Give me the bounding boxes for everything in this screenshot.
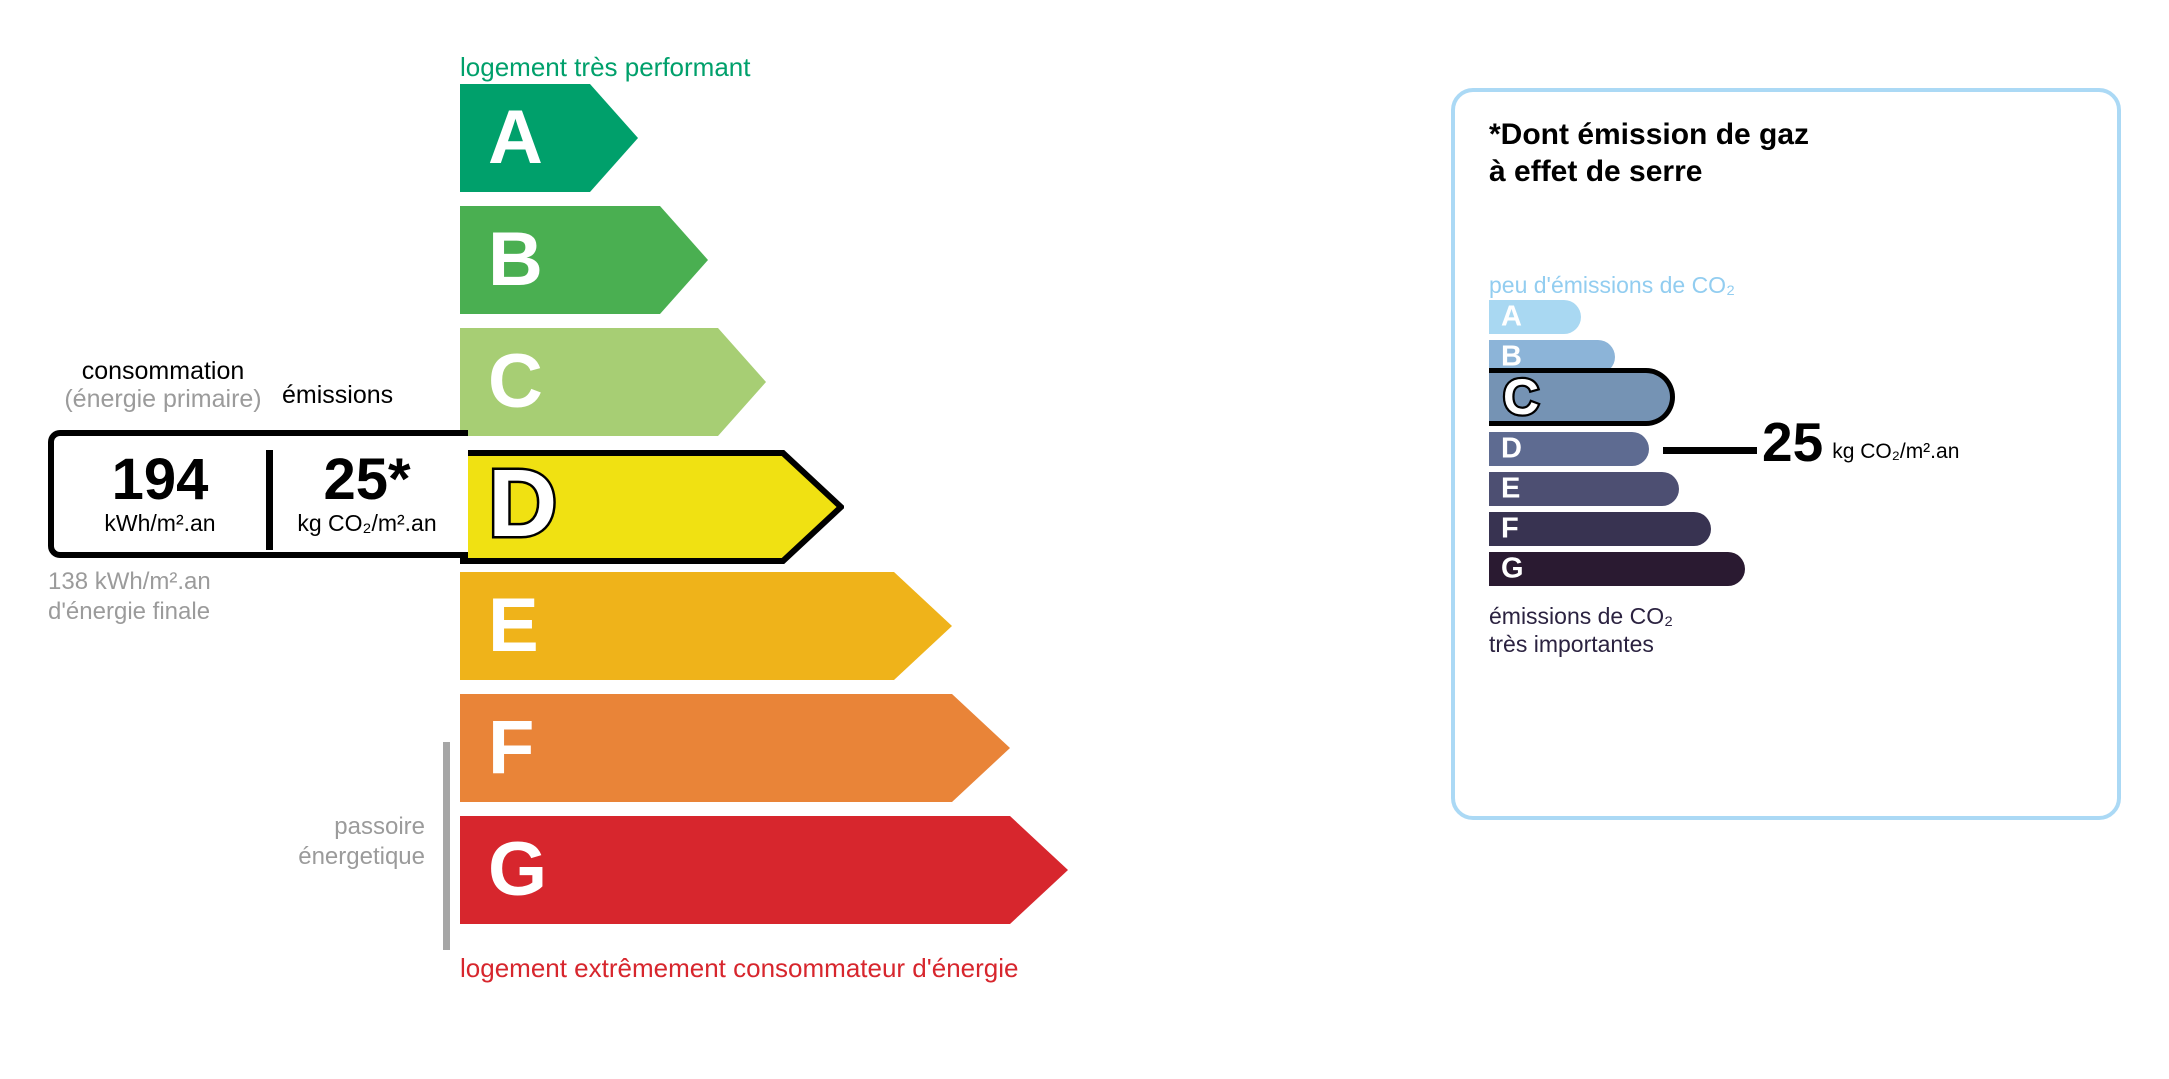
arrow-shape-a [460, 84, 638, 192]
emissions-value: 25* [323, 451, 410, 509]
emissions-value-cell: 25* kg CO₂/m².an [272, 436, 462, 552]
passoire-line2: énergetique [250, 842, 425, 872]
co2-scale-bottom-caption: émissions de CO₂ très importantes [1489, 602, 1673, 658]
co2-class-bar-e: E [1489, 472, 1679, 506]
energy-class-letter-e: E [488, 588, 539, 664]
consumption-label-main: consommation [82, 357, 245, 385]
consumption-label: consommation (énergie primaire) [48, 357, 278, 413]
energy-class-letter-a: A [488, 100, 543, 176]
co2-class-bar-c: C [1489, 368, 1675, 426]
consumption-label-sub: (énergie primaire) [48, 385, 278, 413]
co2-leader-line [1663, 447, 1757, 454]
co2-value-number: 25 [1762, 415, 1823, 470]
co2-value-unit: kg CO₂/m².an [1832, 440, 1959, 464]
co2-bottom-line1: émissions de CO₂ [1489, 602, 1673, 630]
co2-scale-top-caption: peu d'émissions de CO₂ [1489, 272, 1735, 299]
consumption-unit: kWh/m².an [104, 511, 215, 536]
energy-class-arrow-c: C [460, 328, 766, 436]
final-energy-line2: d'énergie finale [48, 597, 211, 627]
passoire-line1: passoire [250, 812, 425, 842]
passoire-bracket [443, 742, 450, 950]
co2-class-letter-e: E [1501, 475, 1520, 504]
emissions-label: émissions [282, 381, 393, 410]
co2-class-letter-a: A [1501, 303, 1522, 332]
energy-class-letter-c: C [488, 344, 543, 420]
co2-panel-title: *Dont émission de gaz à effet de serre [1489, 117, 1809, 190]
arrow-shape-g [460, 816, 1068, 924]
co2-title-line2: à effet de serre [1489, 154, 1809, 191]
final-energy-note: 138 kWh/m².an d'énergie finale [48, 567, 211, 627]
final-energy-line1: 138 kWh/m².an [48, 567, 211, 597]
energy-class-arrow-d: D [460, 450, 838, 558]
co2-class-bar-d: D [1489, 432, 1649, 466]
energy-class-letter-d: D [488, 456, 557, 552]
energy-class-letter-g: G [488, 832, 547, 908]
consumption-value-cell: 194 kWh/m².an [54, 436, 266, 552]
energy-scale-top-caption: logement très performant [460, 52, 750, 83]
co2-class-letter-d: D [1501, 435, 1522, 464]
co2-value-readout: 25 kg CO₂/m².an [1762, 415, 1959, 470]
energy-consumption-panel: logement très performant ABCDEFG consomm… [0, 0, 1400, 1079]
energy-class-arrow-g: G [460, 816, 1068, 924]
energy-class-letter-b: B [488, 222, 543, 298]
co2-class-bar-g: G [1489, 552, 1745, 586]
passoire-label: passoire énergetique [250, 812, 425, 872]
energy-class-arrow-b: B [460, 206, 708, 314]
co2-class-bar-f: F [1489, 512, 1711, 546]
co2-class-bar-a: A [1489, 300, 1581, 334]
co2-class-letter-c: C [1503, 372, 1539, 422]
energy-class-letter-f: F [488, 710, 534, 786]
emissions-unit: kg CO₂/m².an [297, 511, 436, 536]
energy-class-arrow-f: F [460, 694, 1010, 802]
consumption-value: 194 [112, 451, 209, 509]
co2-class-letter-g: G [1501, 555, 1524, 584]
arrow-shape-f [460, 694, 1010, 802]
energy-class-arrow-e: E [460, 572, 952, 680]
energy-scale-bottom-caption: logement extrêmement consommateur d'éner… [460, 953, 1018, 984]
energy-class-arrow-a: A [460, 84, 638, 192]
energy-value-box: 194 kWh/m².an 25* kg CO₂/m².an [48, 430, 468, 558]
dpe-label: logement très performant ABCDEFG consomm… [0, 0, 2169, 1079]
co2-title-line1: *Dont émission de gaz [1489, 117, 1809, 154]
co2-class-letter-f: F [1501, 515, 1519, 544]
co2-bottom-line2: très importantes [1489, 630, 1673, 658]
